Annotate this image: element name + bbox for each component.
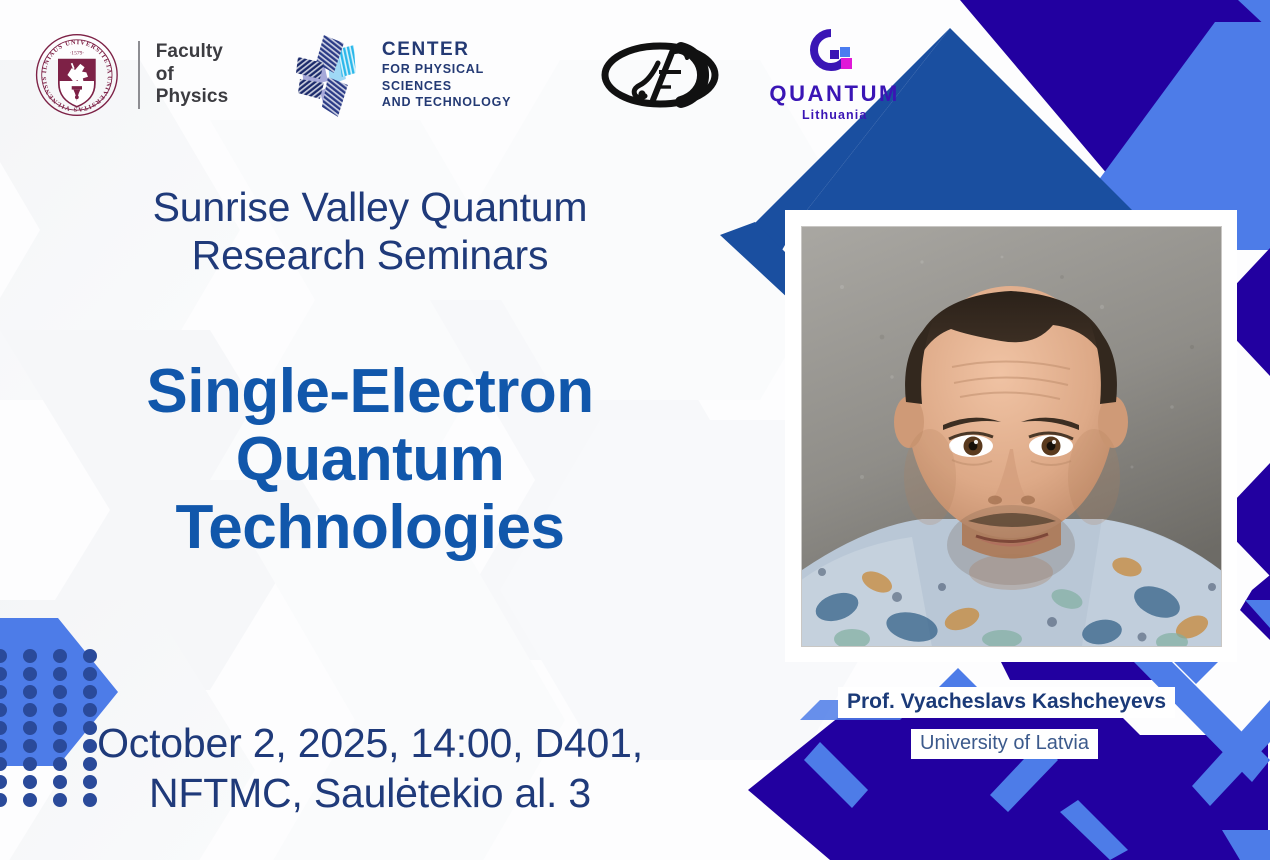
logo-divider <box>138 41 140 109</box>
quantum-q-icon <box>807 29 863 77</box>
quantum-sub-wordmark: Lithuania <box>802 108 867 122</box>
ftmc-wordmark: CENTER FOR PHYSICAL SCIENCES AND TECHNOL… <box>382 39 557 112</box>
ftmc-line2: FOR PHYSICAL SCIENCES <box>382 61 557 95</box>
vu-wordmark: Faculty of Physics <box>156 41 246 108</box>
physics-faculty-monogram-logo <box>601 34 719 116</box>
talk-title-line3: Technologies <box>0 494 740 562</box>
ftmc-line1: CENTER <box>382 39 557 61</box>
quantum-wordmark: QUANTUM <box>769 81 900 107</box>
event-details-line1: October 2, 2025, 14:00, D401, <box>0 718 740 768</box>
talk-title: Single-Electron Quantum Technologies <box>0 358 740 563</box>
series-title-line1: Sunrise Valley Quantum <box>0 183 740 231</box>
event-details-line2: NFTMC, Saulėtekio al. 3 <box>0 768 740 818</box>
speaker-photo <box>801 226 1222 647</box>
series-title-line2: Research Seminars <box>0 231 740 279</box>
speaker-affiliation: University of Latvia <box>911 729 1098 759</box>
vu-seal-icon: VILNIAUS UNIVERSITETAS UNIVERSITAS VILNE… <box>34 32 120 118</box>
quantum-lithuania-logo: QUANTUM Lithuania <box>769 29 900 122</box>
vu-wordmark-line2: Physics <box>156 86 246 108</box>
svg-text:·1579·: ·1579· <box>69 50 84 56</box>
logo-row: VILNIAUS UNIVERSITETAS UNIVERSITAS VILNE… <box>0 0 900 150</box>
vilnius-university-logo: VILNIAUS UNIVERSITETAS UNIVERSITAS VILNE… <box>34 32 246 118</box>
ftmc-line3: AND TECHNOLOGY <box>382 94 557 111</box>
fd-monogram-icon <box>601 34 719 116</box>
series-title: Sunrise Valley Quantum Research Seminars <box>0 183 740 280</box>
event-details: October 2, 2025, 14:00, D401, NFTMC, Sau… <box>0 718 740 818</box>
ftmc-logo: CENTER FOR PHYSICAL SCIENCES AND TECHNOL… <box>294 29 557 121</box>
talk-title-line1: Single-Electron <box>0 358 740 426</box>
speaker-name: Prof. Vyacheslavs Kashcheyevs <box>838 687 1175 718</box>
ftmc-star-icon <box>294 29 372 121</box>
talk-title-line2: Quantum <box>0 426 740 494</box>
seminar-poster: VILNIAUS UNIVERSITETAS UNIVERSITAS VILNE… <box>0 0 1270 860</box>
avatar <box>802 227 1221 646</box>
vu-wordmark-line1: Faculty of <box>156 41 246 86</box>
